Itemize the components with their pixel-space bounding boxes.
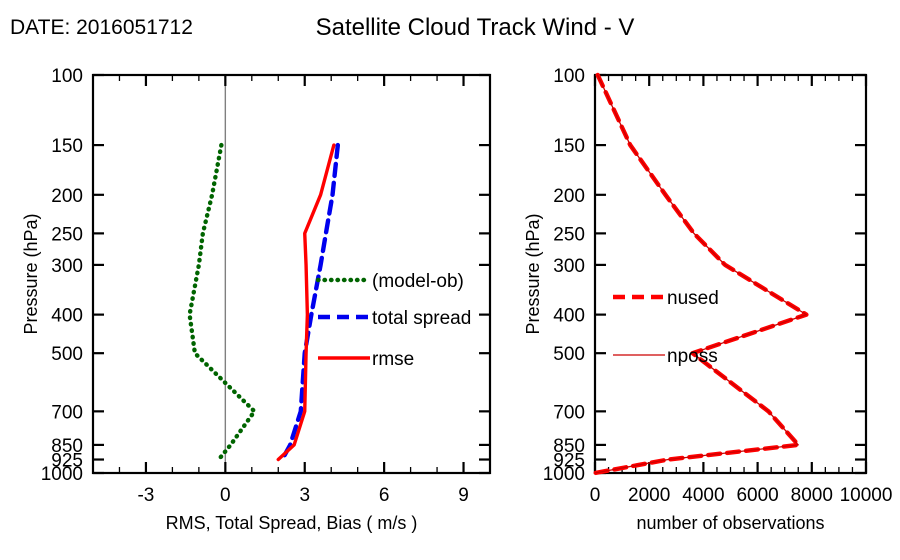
legend-label-nused: nused xyxy=(667,288,719,309)
legend-label-modelob: (model-ob) xyxy=(372,271,464,292)
y-axis-title: Pressure (hPa) xyxy=(523,213,543,334)
series-line-rmse xyxy=(278,145,334,459)
page-title: Satellite Cloud Track Wind - V xyxy=(0,14,900,42)
y-tick-label: 250 xyxy=(553,224,585,245)
legend-label-totalspread: total spread xyxy=(372,308,471,329)
right-plot-panel: 1001502002503004005007008509251000020004… xyxy=(523,66,892,533)
y-tick-label: 200 xyxy=(51,186,83,207)
y-tick-label: 100 xyxy=(553,66,585,87)
x-tick-label: 6000 xyxy=(736,485,778,506)
x-tick-label: 4000 xyxy=(682,485,724,506)
y-tick-label: 150 xyxy=(553,136,585,157)
x-tick-label: 0 xyxy=(220,485,231,506)
y-tick-label: 1000 xyxy=(543,464,585,485)
y-tick-label: 400 xyxy=(51,306,83,327)
x-tick-label: 3 xyxy=(299,485,310,506)
y-tick-label: 700 xyxy=(553,402,585,423)
x-tick-label: 6 xyxy=(379,485,390,506)
x-tick-label: 10000 xyxy=(840,485,893,506)
x-tick-label: 9 xyxy=(458,485,469,506)
series-line-modelob xyxy=(190,145,255,459)
figure-canvas: DATE: 2016051712 Satellite Cloud Track W… xyxy=(0,0,900,560)
series-line-nused xyxy=(595,75,806,473)
y-tick-label: 300 xyxy=(553,256,585,277)
plot-frame xyxy=(595,75,866,473)
x-axis-title: number of observations xyxy=(636,513,824,533)
y-axis-title: Pressure (hPa) xyxy=(21,213,41,334)
x-axis-title: RMS, Total Spread, Bias ( m/s ) xyxy=(166,513,418,533)
y-tick-label: 400 xyxy=(553,306,585,327)
x-tick-label: 2000 xyxy=(628,485,670,506)
left-plot-panel: 1001502002503004005007008509251000-30369… xyxy=(21,66,490,533)
y-tick-label: 1000 xyxy=(41,464,83,485)
series-line-totalspread xyxy=(282,145,338,459)
y-tick-label: 700 xyxy=(51,402,83,423)
y-tick-label: 250 xyxy=(51,224,83,245)
x-tick-label: -3 xyxy=(137,485,154,506)
x-tick-label: 0 xyxy=(590,485,601,506)
y-tick-label: 500 xyxy=(51,344,83,365)
y-tick-label: 100 xyxy=(51,66,83,87)
x-tick-label: 8000 xyxy=(791,485,833,506)
y-tick-label: 500 xyxy=(553,344,585,365)
plot-area: 1001502002503004005007008509251000-30369… xyxy=(0,0,900,560)
y-tick-label: 300 xyxy=(51,256,83,277)
legend-label-rmse: rmse xyxy=(372,349,414,370)
legend-label-nposs: nposs xyxy=(667,346,718,367)
y-tick-label: 200 xyxy=(553,186,585,207)
y-tick-label: 150 xyxy=(51,136,83,157)
